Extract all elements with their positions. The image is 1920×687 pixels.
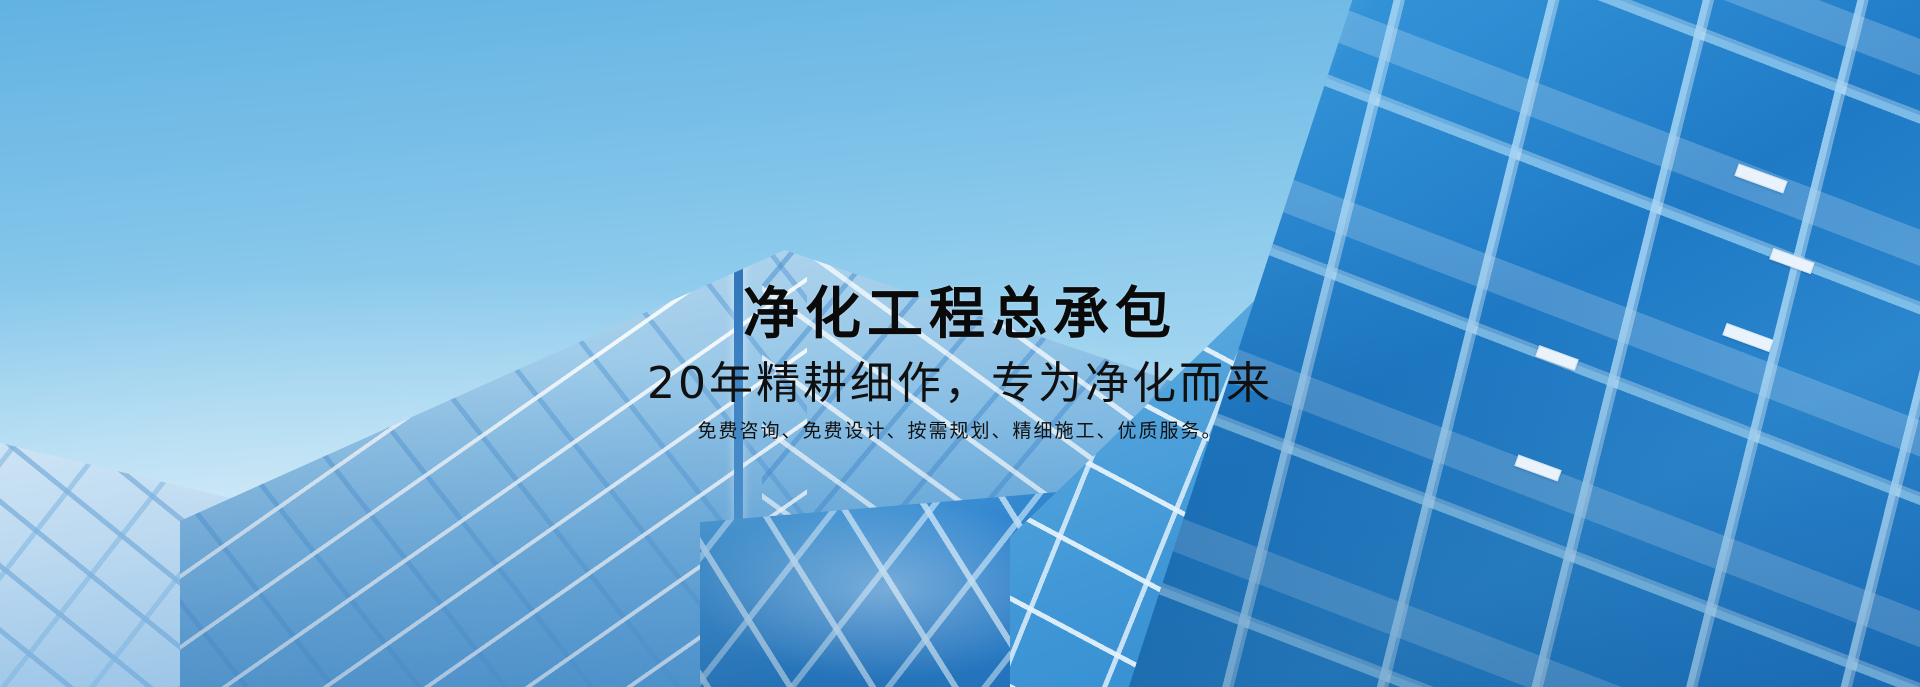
hero-banner: 净化工程总承包 20年精耕细作，专为净化而来 免费咨询、免费设计、按需规划、精细…: [0, 0, 1920, 687]
